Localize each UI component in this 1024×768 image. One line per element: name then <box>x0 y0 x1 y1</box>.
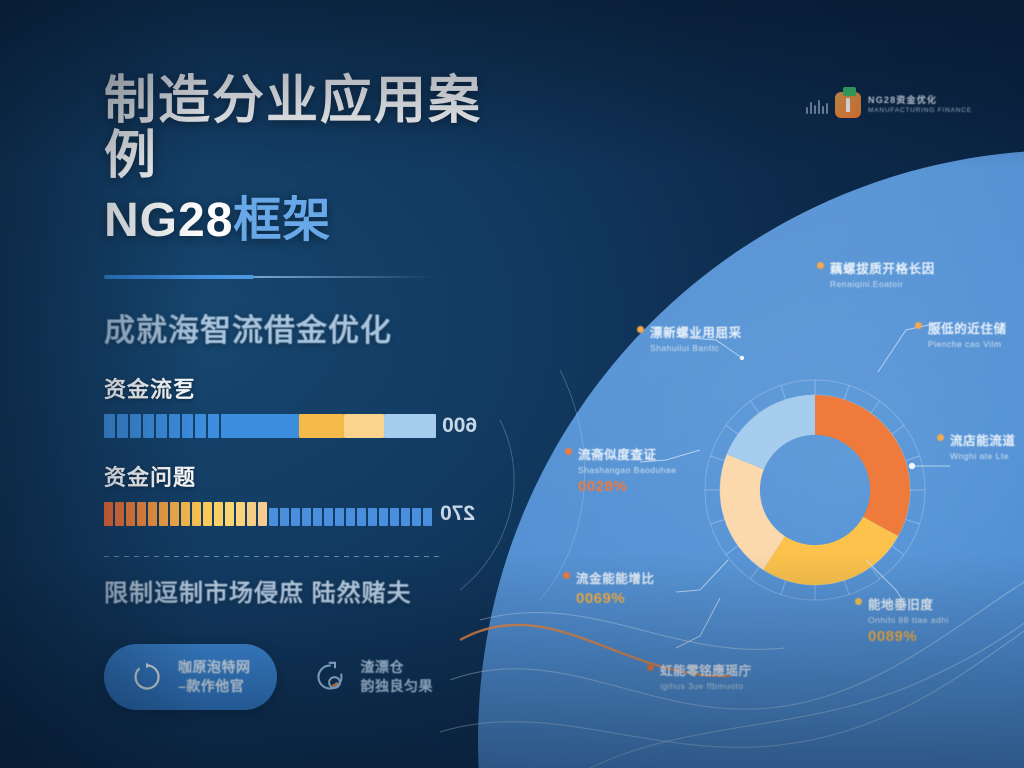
bar2-segment-24 <box>368 508 377 526</box>
refresh-circle-arrow-icon <box>313 660 347 694</box>
bar2-segment-28 <box>412 508 421 526</box>
secondary-action-label: 渣漂仓 韵独良匀果 <box>361 658 434 696</box>
page-title: 制造分业应用案例 <box>104 74 534 184</box>
chart-annotation-left-lower: 流金能能增比0069% <box>576 568 655 607</box>
chart-annotation-right-mid: 流店能流道Wnghi ate Lte <box>950 430 1016 461</box>
annotation-value: 0089% <box>868 628 949 645</box>
bar1-segment-3 <box>344 414 384 438</box>
bar1-tick <box>195 414 206 438</box>
secondary-action-button[interactable]: 渣漂仓 韵独良匀果 <box>287 644 460 710</box>
bar2-segment-23 <box>357 508 366 526</box>
bar2-segment-25 <box>379 508 388 526</box>
annotation-dot-icon <box>637 326 644 333</box>
metric-bar-track-1[interactable] <box>104 414 436 438</box>
primary-action-button[interactable]: 咖原泡特网 –款作他官 <box>104 644 277 710</box>
dashed-divider <box>104 556 444 557</box>
bar2-segment-21 <box>335 508 344 526</box>
bar2-segment-10 <box>214 502 223 526</box>
metric-bar-row-1: 600 <box>104 414 534 438</box>
bar2-segment-22 <box>346 508 355 526</box>
bar1-tick <box>208 414 219 438</box>
bar2-segment-2 <box>126 502 135 526</box>
bar2-segment-26 <box>390 508 399 526</box>
bar1-tick <box>143 414 154 438</box>
donut-ring-tick <box>892 425 904 434</box>
annotation-subtitle: Pienche cao Vilm <box>928 339 1007 349</box>
page-subtitle-en: NG28 <box>104 194 233 247</box>
primary-action-line1: 咖原泡特网 <box>178 658 251 677</box>
bar2-segment-20 <box>324 508 333 526</box>
metric-bar-label-2: 资金问题 <box>104 460 534 492</box>
chart-annotation-left-mid: 流斋似度查证Shashangao Baoduhae0028% <box>578 444 676 495</box>
bar2-segment-5 <box>159 502 168 526</box>
annotation-title: 能地垂旧度 <box>868 594 949 613</box>
donut-chart[interactable] <box>716 391 914 589</box>
chart-annotation-top-left: 漂新螺业用屈采Shahuilui Banttc <box>650 322 742 353</box>
metric-bar-track-2[interactable] <box>104 502 434 526</box>
logo-name-secondary: MANUFACTURING FINANCE <box>868 107 972 115</box>
bar2-segment-29 <box>423 508 432 526</box>
annotation-value: 0028% <box>578 478 676 495</box>
logo-text: NG28资金优化 MANUFACTURING FINANCE <box>868 95 972 115</box>
annotation-subtitle: Onhihi 88 ttae adhi <box>868 615 949 625</box>
chart-annotation-top-right: 藕螺拔质开格长因Renaiqini.Eoatoir <box>830 258 935 289</box>
bar1-segment-1 <box>221 414 299 438</box>
donut-ring-tick <box>871 401 880 413</box>
annotation-value: 0069% <box>576 590 655 607</box>
annotation-title: 虹能零铭應瑶庁 <box>660 660 752 679</box>
page-subtitle-cn: 框架 <box>233 194 331 247</box>
bar1-tick <box>156 414 167 438</box>
metric-bar-label-1: 资金流乭 <box>104 372 534 404</box>
secondary-action-line1: 渣漂仓 <box>361 658 434 677</box>
donut-ring-tick <box>892 546 904 555</box>
metric-bar-block-2: 资金问题 270 <box>104 460 534 526</box>
annotation-title: 漂新螺业用屈采 <box>650 322 742 341</box>
annotation-dot-icon <box>817 262 824 269</box>
bar2-segment-14 <box>258 502 267 526</box>
metric-bar-block-1: 资金流乭 600 <box>104 372 534 438</box>
annotation-dot-icon <box>563 572 570 579</box>
bar2-segment-4 <box>148 502 157 526</box>
annotation-dot-icon <box>565 448 572 455</box>
metric-bar-value-2: 270 <box>440 502 475 526</box>
annotation-dot-icon <box>937 434 944 441</box>
annotation-subtitle: Shahuilui Banttc <box>650 343 742 353</box>
donut-slice-1[interactable] <box>763 517 898 585</box>
annotation-dot-icon <box>855 598 862 605</box>
primary-action-line2: –款作他官 <box>178 677 251 696</box>
annotation-title: 流金能能增比 <box>576 568 655 587</box>
donut-slice-3[interactable] <box>727 395 815 469</box>
secondary-action-line2: 韵独良匀果 <box>361 677 434 696</box>
donut-ring-tick <box>750 567 759 579</box>
bar1-segment-2 <box>299 414 344 438</box>
bar1-tick <box>117 414 128 438</box>
bar2-segment-19 <box>313 508 322 526</box>
refresh-circle-icon <box>130 660 164 694</box>
section-heading: 成就海智流借金优化 <box>104 305 534 350</box>
annotation-subtitle: Renaiqini.Eoatoir <box>830 279 935 289</box>
donut-ring-tick <box>871 567 880 579</box>
donut-ring-tick <box>750 401 759 413</box>
orange-rounded-square-logo-icon <box>835 92 861 118</box>
annotation-dot-icon <box>915 322 922 329</box>
metric-bar-value-1: 600 <box>442 414 477 438</box>
bar2-segment-0 <box>104 502 113 526</box>
bar2-segment-18 <box>302 508 311 526</box>
donut-slice-0[interactable] <box>815 395 910 536</box>
bar2-segment-3 <box>137 502 146 526</box>
chart-annotation-right-lower: 能地垂旧度Onhihi 88 ttae adhi0089% <box>868 594 949 645</box>
bar2-segment-6 <box>170 502 179 526</box>
bar2-segment-13 <box>247 502 256 526</box>
annotation-subtitle: Shashangao Baoduhae <box>578 465 676 475</box>
annotation-subtitle: igihus 3ue ffbmuoto <box>660 681 752 691</box>
bar2-segment-15 <box>269 508 278 526</box>
chart-annotation-bottom-center: 虹能零铭應瑶庁igihus 3ue ffbmuoto <box>660 660 752 691</box>
donut-ring-tick <box>726 425 738 434</box>
bar2-segment-17 <box>291 508 300 526</box>
logo-bars-icon <box>806 96 828 114</box>
bar2-segment-11 <box>225 502 234 526</box>
bar1-tick <box>169 414 180 438</box>
bar2-segment-7 <box>181 502 190 526</box>
annotation-subtitle: Wnghi ate Lte <box>950 451 1016 461</box>
bar2-segment-9 <box>203 502 212 526</box>
bar1-segment-4 <box>384 414 436 438</box>
annotation-title: 流斋似度查证 <box>578 444 676 463</box>
bar1-tick <box>130 414 141 438</box>
bar2-segment-12 <box>236 502 245 526</box>
bar1-tick <box>182 414 193 438</box>
bar2-segment-27 <box>401 508 410 526</box>
bar2-segment-1 <box>115 502 124 526</box>
annotation-dot-icon <box>647 664 654 671</box>
bar2-segment-16 <box>280 508 289 526</box>
brand-logo: NG28资金优化 MANUFACTURING FINANCE <box>806 92 972 118</box>
footer-note: 限制逗制市场侵庶 陆然赌夫 <box>104 573 534 608</box>
accent-divider-fade <box>254 276 434 278</box>
chart-annotation-right-upper: 服低的近住储Pienche cao Vilm <box>928 318 1007 349</box>
left-content-column: 制造分业应用案例 NG28框架 成就海智流借金优化 资金流乭 600 资金问题 … <box>104 74 534 710</box>
page-subtitle: NG28框架 <box>104 196 534 247</box>
logo-name-primary: NG28资金优化 <box>868 95 972 107</box>
accent-divider-solid <box>104 275 254 279</box>
bar1-tick <box>104 414 115 438</box>
annotation-title: 藕螺拔质开格长因 <box>830 258 935 277</box>
action-button-row: 咖原泡特网 –款作他官 渣漂仓 韵独良匀果 <box>104 644 534 710</box>
accent-divider <box>104 275 434 279</box>
annotation-title: 流店能流道 <box>950 430 1016 449</box>
bar2-segment-8 <box>192 502 201 526</box>
primary-action-label: 咖原泡特网 –款作他官 <box>178 658 251 696</box>
donut-ring-tick <box>726 546 738 555</box>
slide-canvas: NG28资金优化 MANUFACTURING FINANCE 制造分业应用案例 … <box>0 0 1024 768</box>
metric-bar-row-2: 270 <box>104 502 534 526</box>
annotation-title: 服低的近住储 <box>928 318 1007 337</box>
